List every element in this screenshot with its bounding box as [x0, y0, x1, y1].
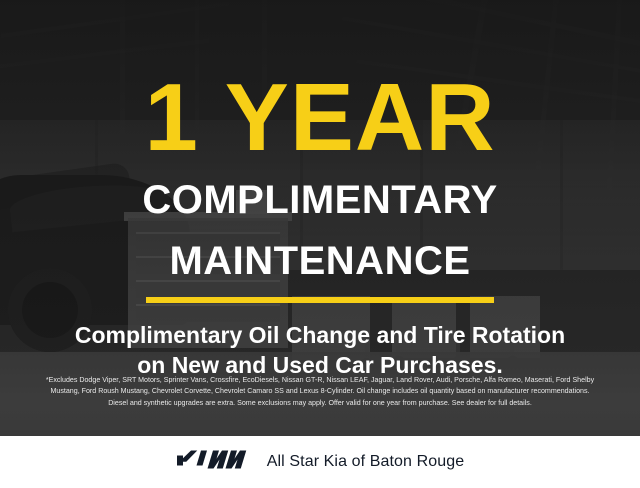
disclaimer-line-3: Diesel and synthetic upgrades are extra.…: [12, 398, 628, 409]
headline-complimentary: COMPLIMENTARY: [142, 178, 497, 223]
dealer-name: All Star Kia of Baton Rouge: [267, 453, 464, 471]
disclaimer-line-2: Mustang, Ford Roush Mustang, Chevrolet C…: [12, 386, 628, 397]
disclaimer-line-1: *Excludes Dodge Viper, SRT Motors, Sprin…: [12, 375, 628, 386]
disclaimer-text: *Excludes Dodge Viper, SRT Motors, Sprin…: [12, 375, 628, 409]
offer-description: Complimentary Oil Change and Tire Rotati…: [75, 320, 565, 381]
kia-logo-icon: [176, 449, 250, 475]
maintenance-promo-banner: 1 YEAR COMPLIMENTARY MAINTENANCE Complim…: [0, 0, 640, 488]
headline-maintenance: MAINTENANCE: [169, 239, 470, 284]
offer-line-1: Complimentary Oil Change and Tire Rotati…: [75, 320, 565, 350]
headline-year: 1 YEAR: [144, 74, 495, 162]
dealer-footer: All Star Kia of Baton Rouge: [0, 436, 640, 488]
promo-content: 1 YEAR COMPLIMENTARY MAINTENANCE Complim…: [0, 0, 640, 488]
yellow-divider-bar: [146, 297, 494, 303]
